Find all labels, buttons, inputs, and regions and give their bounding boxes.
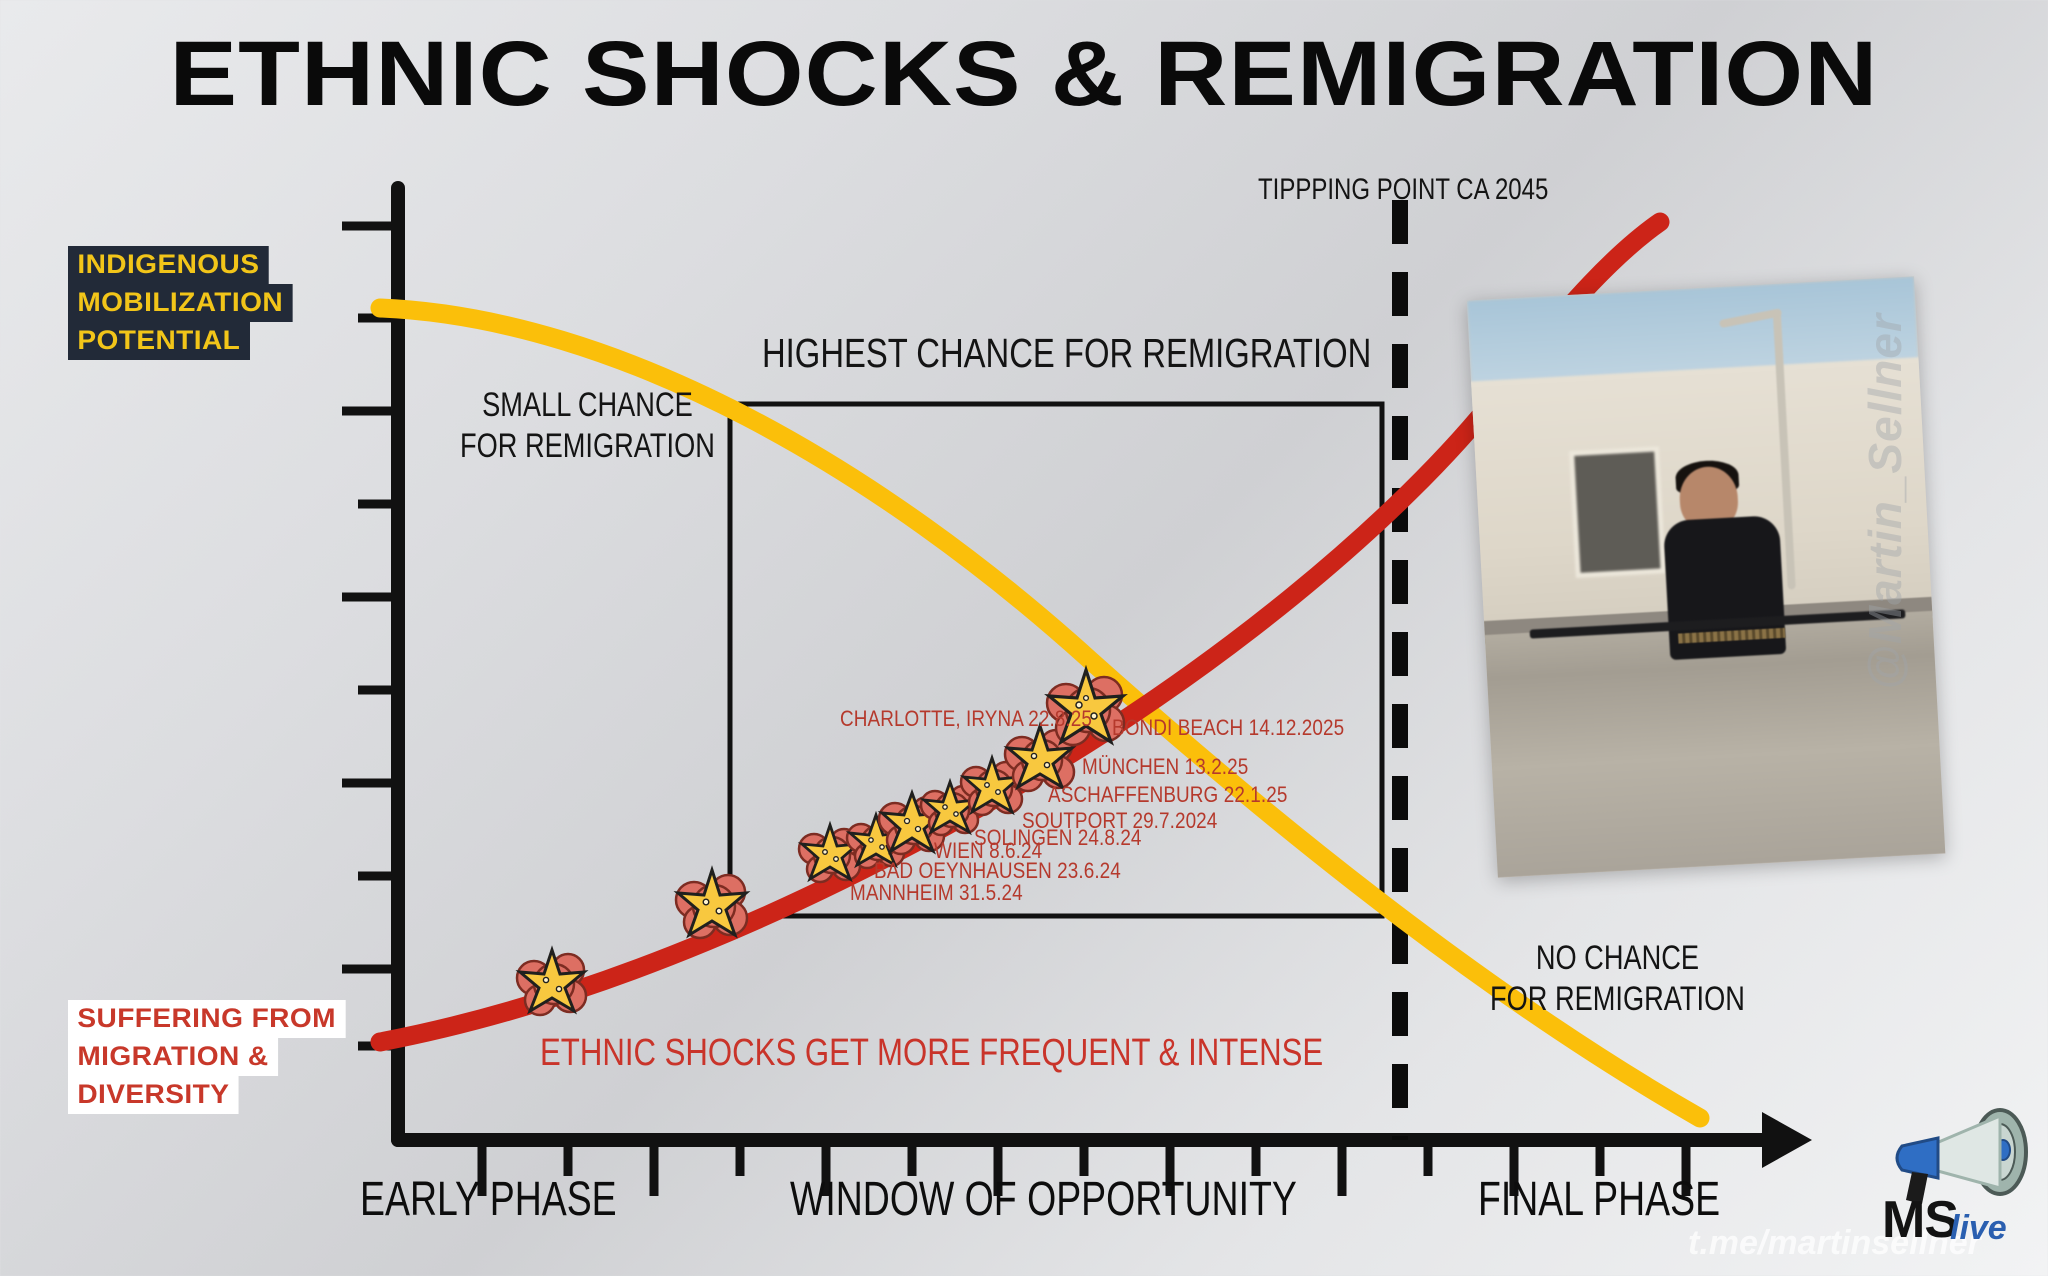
event-label: CHARLOTTE, IRYNA 22.8.25 bbox=[840, 706, 1092, 732]
x-axis-label-final-phase: FINAL PHASE bbox=[1478, 1172, 1720, 1227]
photo-window bbox=[1569, 446, 1665, 578]
y-axis-top-label: INDIGENOUS MOBILIZATION POTENTIAL bbox=[68, 246, 292, 360]
event-label: MANNHEIM 31.5.24 bbox=[850, 880, 1023, 906]
annotation-no-chance-line-2: FOR REMIGRATION bbox=[1490, 979, 1745, 1020]
annotation-no-chance: NO CHANCE FOR REMIGRATION bbox=[1490, 938, 1745, 1021]
event-label: ASCHAFFENBURG 22.1.25 bbox=[1048, 782, 1287, 808]
annotation-small-chance-line-2: FOR REMIGRATION bbox=[460, 426, 715, 467]
x-axis-label-window-of-opportunity: WINDOW OF OPPORTUNITY bbox=[790, 1172, 1297, 1227]
y-axis-top-line-1: INDIGENOUS bbox=[68, 246, 269, 284]
handle-watermark: @Martin_Sellner bbox=[1858, 313, 1912, 690]
annotation-no-chance-line-1: NO CHANCE bbox=[1490, 938, 1745, 979]
mslive-logo: MS live bbox=[1876, 1108, 2040, 1268]
logo-live-text: live bbox=[1950, 1209, 2007, 1248]
y-axis-bottom-line-1: SUFFERING FROM bbox=[68, 1000, 345, 1038]
y-axis bbox=[342, 188, 398, 1140]
annotation-shocks-frequent: ETHNIC SHOCKS GET MORE FREQUENT & INTENS… bbox=[540, 1032, 1323, 1075]
event-label: MÜNCHEN 13.2.25 bbox=[1082, 754, 1248, 780]
y-axis-bottom-label: SUFFERING FROM MIGRATION & DIVERSITY bbox=[68, 1000, 345, 1114]
x-axis-label-early-phase: EARLY PHASE bbox=[360, 1172, 617, 1227]
y-axis-top-line-3: POTENTIAL bbox=[68, 322, 250, 360]
logo-ms-text: MS bbox=[1882, 1190, 1958, 1250]
annotation-small-chance-line-1: SMALL CHANCE bbox=[460, 385, 715, 426]
y-axis-bottom-line-3: DIVERSITY bbox=[68, 1076, 239, 1114]
annotation-small-chance: SMALL CHANCE FOR REMIGRATION bbox=[460, 385, 715, 468]
y-axis-bottom-line-2: MIGRATION & bbox=[68, 1038, 278, 1076]
annotation-tipping-point: TIPPPING POINT CA 2045 bbox=[1258, 172, 1548, 209]
event-label: BONDI BEACH 14.12.2025 bbox=[1112, 715, 1344, 741]
y-axis-top-line-2: MOBILIZATION bbox=[68, 284, 292, 322]
annotation-highest-chance: HIGHEST CHANCE FOR REMIGRATION bbox=[762, 328, 1371, 378]
